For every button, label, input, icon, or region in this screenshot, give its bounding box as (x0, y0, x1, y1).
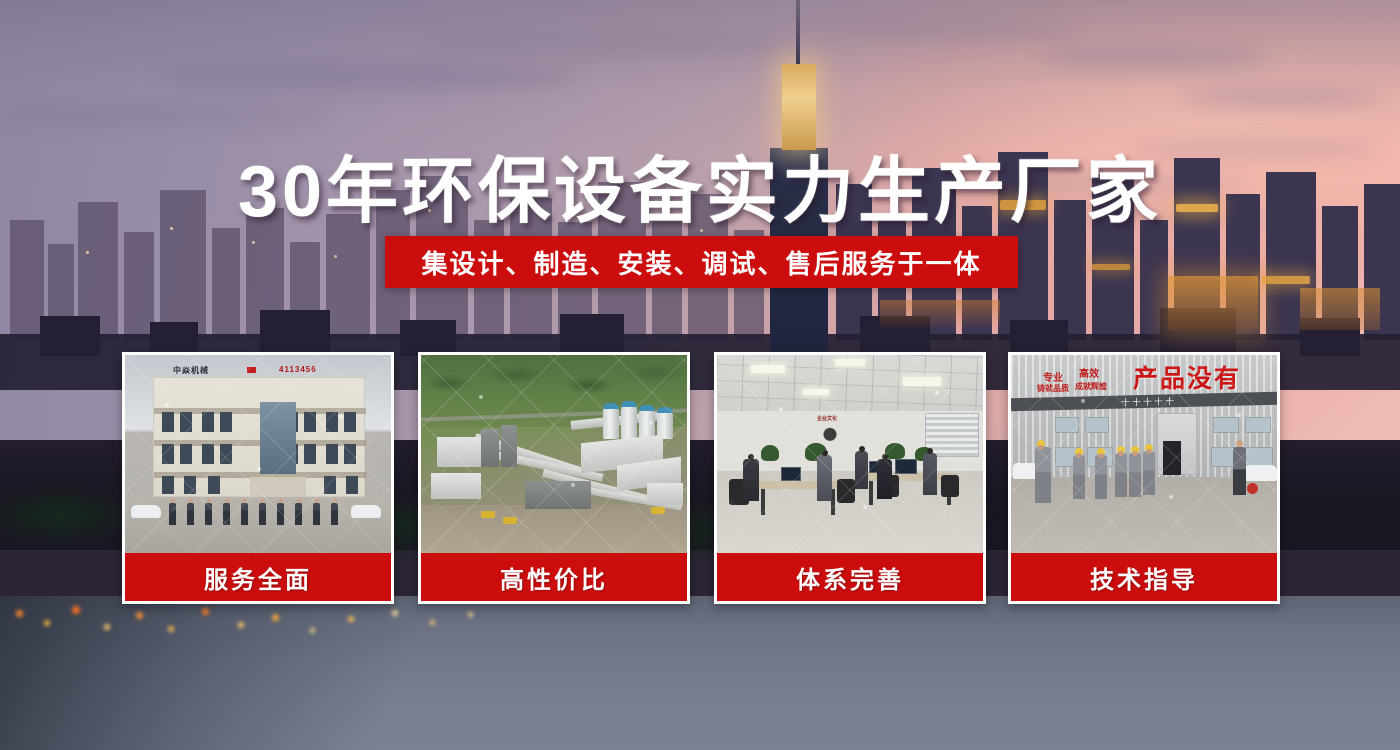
factory-slogan-1: 专业 (1043, 369, 1063, 384)
subtitle-text: 集设计、制造、安装、调试、售后服务于一体 (421, 244, 981, 281)
card-caption: 高性价比 (421, 553, 687, 601)
card-caption-text: 高性价比 (500, 560, 608, 595)
feature-card[interactable]: 高性价比 (418, 352, 690, 604)
card-photo-worker-training: 产品没有 专业 高效 铸就品质 成就辉煌 十十十十十 (1011, 355, 1277, 553)
factory-band-text: 十十十十十 (1121, 394, 1176, 408)
wall-decal-text: 企业文化 (817, 415, 837, 422)
feature-card-row: 中焱机械 4113456 (0, 352, 1400, 608)
feature-card[interactable]: 企业文化 (714, 352, 986, 604)
worker (1143, 451, 1155, 495)
card-caption: 服务全面 (125, 553, 391, 601)
card-caption: 体系完善 (717, 553, 983, 601)
card-caption-text: 技术指导 (1090, 560, 1198, 595)
card-photo-office-interior: 企业文化 (717, 355, 983, 553)
factory-slogan-large: 产品没有 (1133, 359, 1241, 395)
worker (1115, 453, 1127, 497)
feature-card[interactable]: 中焱机械 4113456 (122, 352, 394, 604)
feature-card[interactable]: 产品没有 专业 高效 铸就品质 成就辉煌 十十十十十 (1008, 352, 1280, 604)
worker (1129, 453, 1141, 497)
worker (1095, 455, 1107, 499)
card-caption: 技术指导 (1011, 553, 1277, 601)
subtitle-banner: 集设计、制造、安装、调试、售后服务于一体 (385, 236, 1018, 288)
sky-haze (0, 0, 1400, 150)
photo-phone-number: 4113456 (279, 365, 317, 374)
promo-banner: 30年环保设备实力生产厂家 集设计、制造、安装、调试、售后服务于一体 (0, 0, 1400, 750)
card-photo-office-building: 中焱机械 4113456 (125, 355, 391, 553)
factory-slogan-2: 高效 (1079, 365, 1099, 380)
shore-lights (0, 600, 520, 660)
worker (1073, 455, 1085, 499)
card-caption-text: 体系完善 (796, 560, 904, 595)
factory-slogan-3: 铸就品质 (1037, 383, 1069, 394)
card-photo-industrial-plant (421, 355, 687, 553)
factory-slogan-4: 成就辉煌 (1075, 381, 1107, 392)
red-helmet (1247, 483, 1258, 494)
supervisor (1233, 447, 1246, 495)
flag-icon (247, 367, 256, 373)
worker (1035, 447, 1051, 503)
headline: 30年环保设备实力生产厂家 (0, 132, 1400, 237)
card-caption-text: 服务全面 (204, 560, 312, 595)
photo-company-sign: 中焱机械 (173, 365, 209, 376)
skyscraper-antenna-spire (796, 0, 800, 64)
